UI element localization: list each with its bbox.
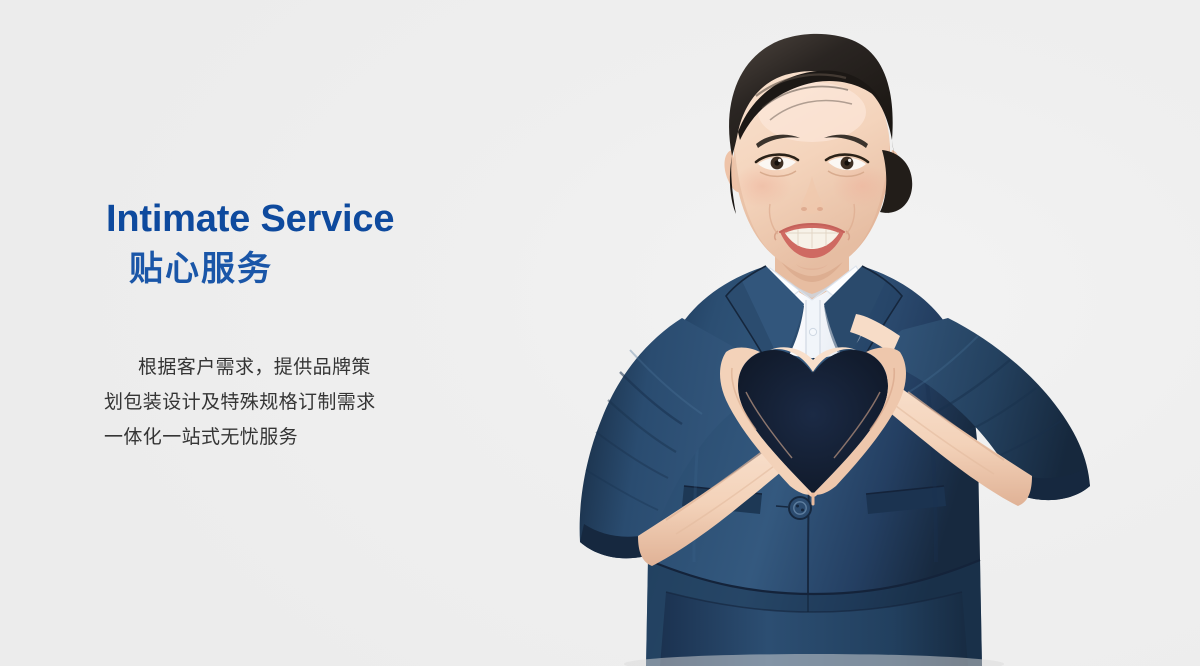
text-block: Intimate Service 贴心服务 根据客户需求，提供品牌策 划包装设计… — [0, 196, 470, 455]
headline-english: Intimate Service — [0, 196, 470, 242]
head — [725, 34, 913, 276]
body-line-2: 划包装设计及特殊规格订制需求 — [104, 385, 404, 420]
intimate-service-banner: Intimate Service 贴心服务 根据客户需求，提供品牌策 划包装设计… — [0, 0, 1200, 666]
photo-illustration — [470, 0, 1200, 666]
headline-chinese: 贴心服务 — [0, 242, 402, 290]
businesswoman-heart-gesture-photo — [470, 0, 1200, 666]
body-copy: 根据客户需求，提供品牌策 划包装设计及特殊规格订制需求 一体化一站式无忧服务 — [0, 290, 404, 455]
body-line-1: 根据客户需求，提供品牌策 — [104, 350, 404, 385]
body-line-3: 一体化一站式无忧服务 — [104, 420, 404, 455]
